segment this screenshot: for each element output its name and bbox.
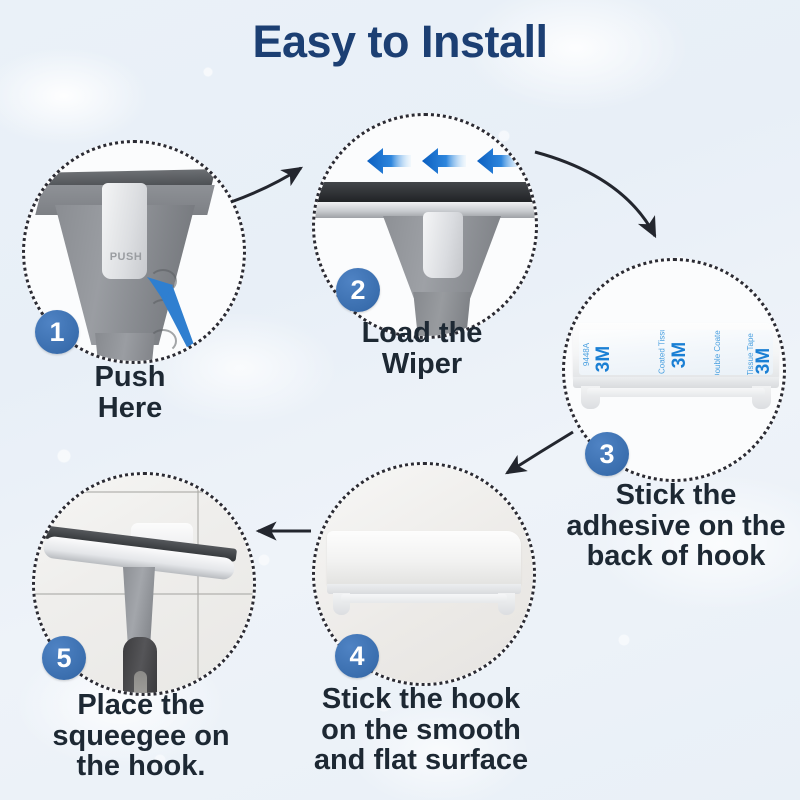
arrow-step3-to-step4 — [507, 432, 573, 473]
hook-crossbar — [341, 594, 508, 603]
step-4-caption: Stick the hook on the smooth and flat su… — [292, 684, 550, 776]
arrow-step1-to-step2 — [231, 168, 301, 202]
step-5-caption: Place the squeegee on the hook. — [22, 690, 260, 782]
tile-grout-vertical — [197, 475, 199, 693]
step-1-caption: Push Here — [20, 362, 240, 423]
tape-side-text-4: Tissue Tape — [746, 333, 755, 375]
tape-brand-label-2: 3M — [669, 342, 691, 368]
squeegee-clip — [423, 212, 463, 278]
tape-side-text-1: 9448A — [582, 343, 591, 366]
step-2-badge: 2 — [336, 268, 380, 312]
wall-mounted-hook — [327, 531, 521, 619]
step-1-badge: 1 — [35, 310, 79, 354]
page-title: Easy to Install — [0, 16, 800, 68]
tile-grout-top — [35, 491, 253, 493]
hook-backplate — [327, 531, 521, 586]
step-3-badge: 3 — [585, 432, 629, 476]
hook-lip — [327, 584, 521, 595]
step-3-caption: Stick the adhesive on the back of hook — [552, 480, 800, 572]
push-button — [102, 183, 147, 279]
tape-side-text-3: Double Coated — [713, 330, 722, 375]
step-4-badge: 4 — [335, 634, 379, 678]
tape-side-text-2: Double Coated Tissue Tape — [658, 330, 667, 375]
push-button-label: PUSH — [105, 251, 147, 263]
3m-adhesive-tape: 3M 9448A Double Coated Tissue Tape 3M Do… — [579, 330, 773, 375]
tape-brand-label-1: 3M — [593, 346, 615, 372]
wiper-rubber-blade — [315, 182, 535, 203]
tape-brand-label-3: 3M — [753, 348, 772, 374]
step-2-caption: Load the Wiper — [312, 318, 532, 379]
push-direction-arrow — [143, 265, 213, 355]
wiper-motion-arrows — [367, 144, 527, 178]
infographic-poster: Easy to Install PUSH — [0, 0, 800, 800]
adhesive-hook: 3M 9448A Double Coated Tissue Tape 3M Do… — [573, 323, 779, 413]
step-5-badge: 5 — [42, 636, 86, 680]
hook-lip — [573, 377, 779, 388]
hook-crossbar — [587, 388, 764, 397]
arrow-step2-to-step3 — [535, 152, 655, 236]
